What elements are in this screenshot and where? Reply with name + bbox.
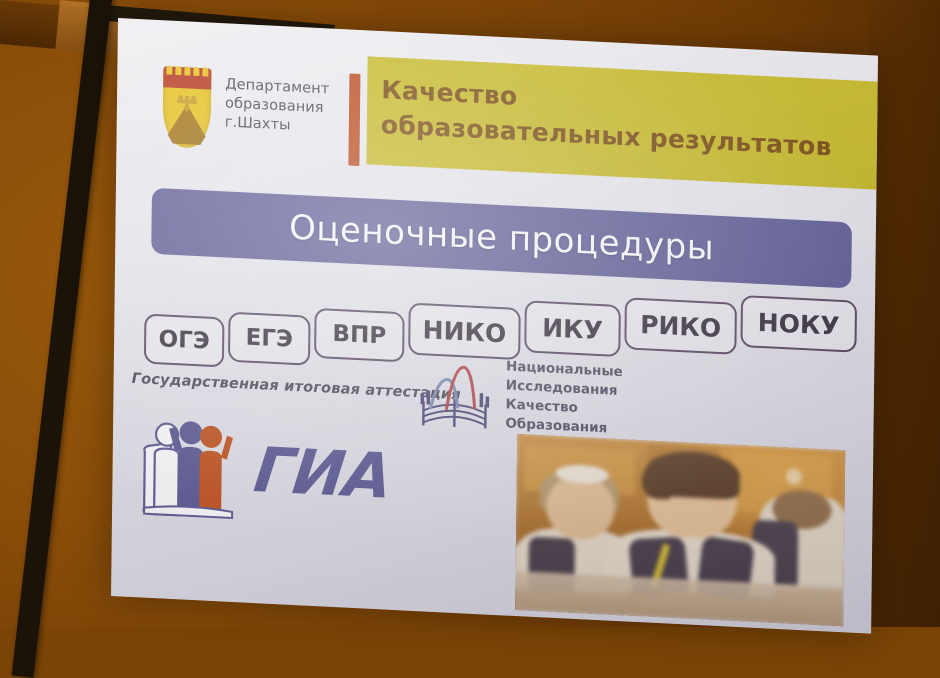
section-title-label: Оценочные процедуры — [289, 208, 714, 269]
assessment-chip[interactable]: ЕГЭ — [228, 312, 311, 366]
assessment-chip-label: НИКО — [422, 315, 506, 348]
presentation-slide: Департамент образования г.Шахты Качество… — [111, 18, 878, 634]
gia-three-figures-book-icon — [136, 417, 247, 522]
department-name: Департамент образования г.Шахты — [225, 75, 330, 138]
projection-screen: Департамент образования г.Шахты Качество… — [111, 18, 878, 656]
assessment-chip-label: ОГЭ — [158, 326, 209, 355]
niko-book-curves-icon — [413, 349, 496, 435]
coat-of-arms-icon — [162, 66, 211, 148]
assessment-chip-label: ИКУ — [542, 313, 603, 345]
assessment-chip[interactable]: ВПР — [314, 308, 405, 362]
slide-header: Департамент образования г.Шахты Качество… — [116, 56, 877, 206]
header-divider — [348, 73, 360, 166]
room-wall-right-shadow — [868, 0, 940, 627]
gia-wordmark: ГИА — [251, 439, 395, 507]
classroom-pupils-writing-photo — [515, 434, 845, 626]
header-title-banner: Качество образовательных результатов — [366, 56, 877, 189]
niko-logo-text: Национальные Исследования Качество Образ… — [505, 357, 623, 439]
assessment-chip[interactable]: ИКУ — [524, 300, 621, 357]
gia-caption: Государственная итоговая аттестация — [132, 371, 462, 403]
assessment-chip-label: НОКУ — [758, 307, 840, 340]
assessment-chip[interactable]: РИКО — [624, 297, 737, 355]
assessment-chip-label: РИКО — [640, 310, 721, 343]
gia-logo: ГИА — [136, 417, 417, 541]
assessment-chip[interactable]: НОКУ — [740, 295, 857, 353]
assessment-chip-label: ЕГЭ — [245, 325, 293, 353]
section-title-banner: Оценочные процедуры — [151, 188, 852, 289]
assessment-chip[interactable]: ОГЭ — [144, 313, 225, 367]
assessment-chip-label: ВПР — [332, 321, 386, 350]
